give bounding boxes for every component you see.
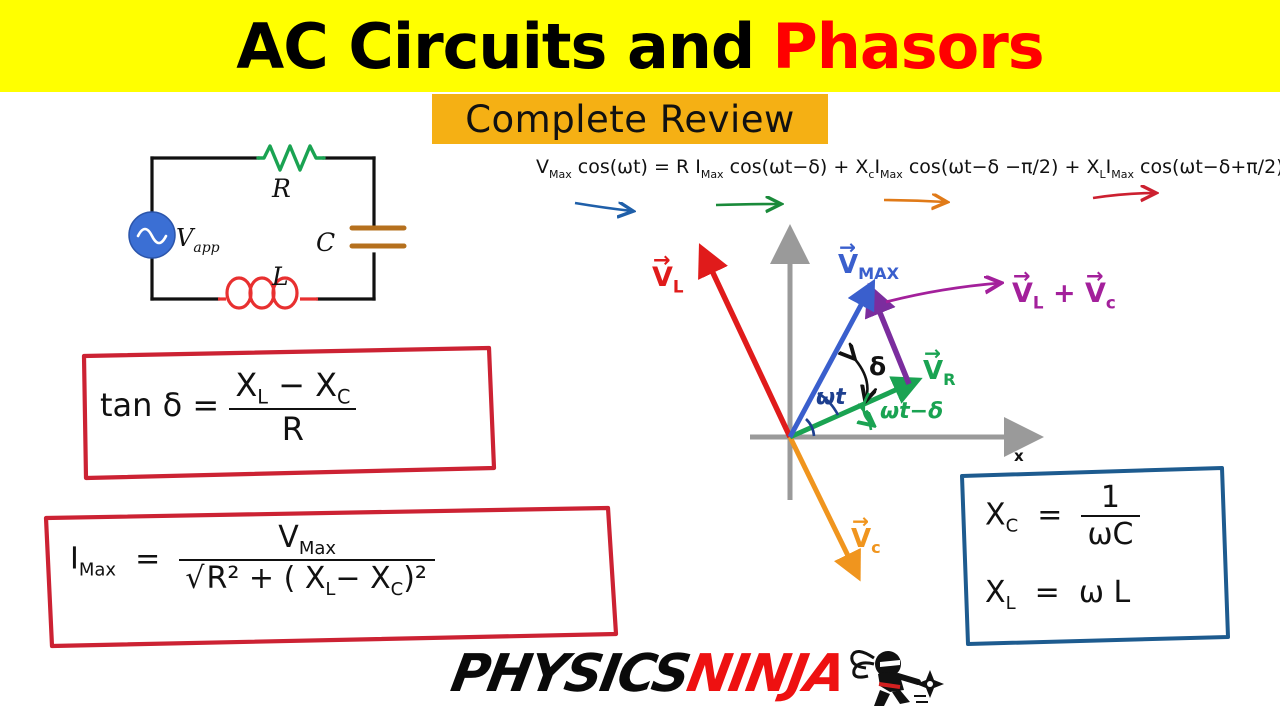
imax-den-main: R² + ( X: [207, 561, 326, 596]
imax-formula: IMax = VMax √R² + ( XL− XC)²: [70, 520, 435, 600]
xc-numerator: 1: [1081, 480, 1139, 515]
sum-v1: V: [1012, 278, 1033, 309]
sum-v2: V: [1085, 278, 1106, 309]
eq-lhs-cos: cos(ωt) =: [578, 156, 670, 178]
logo-physics-text: PHYSICS: [447, 644, 693, 704]
imax-num-v: V: [278, 520, 299, 555]
ninja-mascot-icon: [830, 640, 950, 712]
vector-VMax: [790, 292, 868, 437]
label-angle-wt: ωt: [816, 385, 846, 410]
logo-ninja-text: NINJA: [683, 644, 850, 704]
xl-rhs: ω L: [1079, 575, 1130, 610]
eq-term-c-cos: cos(ωt−δ −π/2) +: [909, 156, 1081, 178]
tan-numerator: XL − XC: [229, 366, 356, 408]
imax-lhs: I: [70, 542, 79, 577]
imax-numerator: VMax: [179, 520, 435, 559]
page-title: AC Circuits and Phasors: [0, 4, 1280, 88]
source-label: Vapp: [176, 224, 220, 256]
label-angle-wt-minus-delta: ωt−δ: [880, 399, 943, 424]
imax-denominator: √R² + ( XL− XC)²: [179, 559, 435, 600]
tan-num-xc-sub: C: [337, 385, 350, 408]
inductor-label: L: [272, 262, 289, 291]
source-label-v: V: [176, 224, 193, 252]
tan-fraction: XL − XC R: [229, 366, 356, 448]
eq-term-l-cos: cos(ωt−δ+π/2): [1140, 156, 1280, 178]
source-label-sub: app: [193, 240, 219, 256]
xc-lhs: X: [985, 498, 1006, 533]
label-VL-plus-Vc: VL + Vc: [1012, 278, 1116, 312]
tan-delta-formula: tan δ = XL − XC R: [100, 366, 356, 448]
hook-wt-minus-delta: [864, 393, 872, 424]
imax-sqrt: √: [185, 561, 204, 596]
tan-num-xc: X: [315, 366, 337, 404]
xl-lhs: X: [985, 575, 1006, 610]
sum-v2-sub: c: [1106, 292, 1116, 312]
inductor-symbol: [218, 278, 318, 308]
arrow-under-vmax: [575, 203, 632, 211]
tan-lhs: tan δ =: [100, 386, 219, 424]
capacitor-symbol: [352, 228, 404, 246]
arc-wt-inner: [806, 419, 814, 436]
eq-lhs-v: V: [536, 156, 549, 178]
logo-wordmark: PHYSICSNINJA: [447, 644, 849, 704]
xc-eq: =: [1037, 498, 1062, 533]
slide-canvas: AC Circuits and Phasors Complete Review: [0, 0, 1280, 720]
xl-lhs-sub: L: [1006, 593, 1016, 614]
xl-formula: XL = ω L: [985, 575, 1130, 614]
xc-lhs-sub: C: [1006, 516, 1019, 537]
arrow-under-inductor: [1093, 193, 1155, 198]
sum-plus: +: [1053, 278, 1076, 309]
tan-num-xl-sub: L: [257, 385, 268, 408]
arc-wt-minus-delta: [858, 404, 871, 430]
eq-term-c-x: X: [855, 156, 868, 178]
xl-eq: =: [1035, 575, 1060, 610]
subtitle-text: Complete Review: [465, 98, 795, 141]
imax-den-close: )²: [403, 561, 427, 596]
main-equation: VMax cos(ωt) = R IMax cos(ωt−δ) + XcIMax…: [536, 156, 1280, 181]
xc-formula: XC = 1 ωC: [985, 480, 1140, 552]
page-title-primary: AC Circuits and: [236, 10, 754, 83]
eq-term-c-isub: Max: [880, 168, 903, 181]
imax-den-minus: − X: [335, 561, 390, 596]
x-axis-label: x: [1014, 447, 1024, 465]
tan-num-xl: X: [235, 366, 257, 404]
imax-den-sub2: C: [391, 579, 404, 600]
eq-term-r: R I: [676, 156, 701, 178]
eq-term-l-x: X: [1086, 156, 1099, 178]
resistor-symbol: [258, 146, 324, 170]
label-VMax: VMAX: [838, 250, 899, 283]
pointer-arrow-sum: [886, 283, 1000, 302]
label-VL: VL: [652, 262, 684, 296]
ac-sine-glyph: [138, 229, 166, 243]
tan-denominator: R: [229, 408, 356, 448]
ac-source-icon: [129, 212, 175, 258]
imax-fraction: VMax √R² + ( XL− XC)²: [179, 520, 435, 600]
arrow-under-resistor: [716, 204, 780, 205]
arc-delta: [853, 357, 867, 399]
resistor-label: R: [272, 174, 291, 203]
eq-term-r-cos: cos(ωt−δ) +: [730, 156, 850, 178]
imax-lhs-sub: Max: [79, 560, 116, 581]
sum-v1-sub: L: [1033, 292, 1044, 312]
page-title-accent: Phasors: [772, 10, 1043, 83]
tan-num-minus: −: [278, 366, 305, 404]
eq-term-l-isub: Max: [1111, 168, 1134, 181]
imax-den-sub1: L: [325, 579, 335, 600]
arrow-under-capacitor: [884, 200, 946, 202]
vector-Vc: [790, 437, 854, 568]
xc-denominator: ωC: [1081, 515, 1139, 552]
label-VR: VR: [923, 356, 956, 389]
imax-eq: =: [135, 542, 160, 577]
capacitor-label: C: [316, 228, 335, 257]
label-Vc: Vc: [851, 524, 881, 557]
vector-VL: [706, 258, 790, 437]
imax-num-sub: Max: [299, 538, 336, 559]
eq-lhs-sub: Max: [549, 168, 572, 181]
subtitle-banner: Complete Review: [432, 94, 828, 144]
eq-term-r-sub: Max: [701, 168, 724, 181]
brand-logo: PHYSICSNINJA: [452, 644, 952, 716]
xc-fraction: 1 ωC: [1081, 480, 1139, 552]
label-angle-delta: δ: [869, 352, 886, 381]
